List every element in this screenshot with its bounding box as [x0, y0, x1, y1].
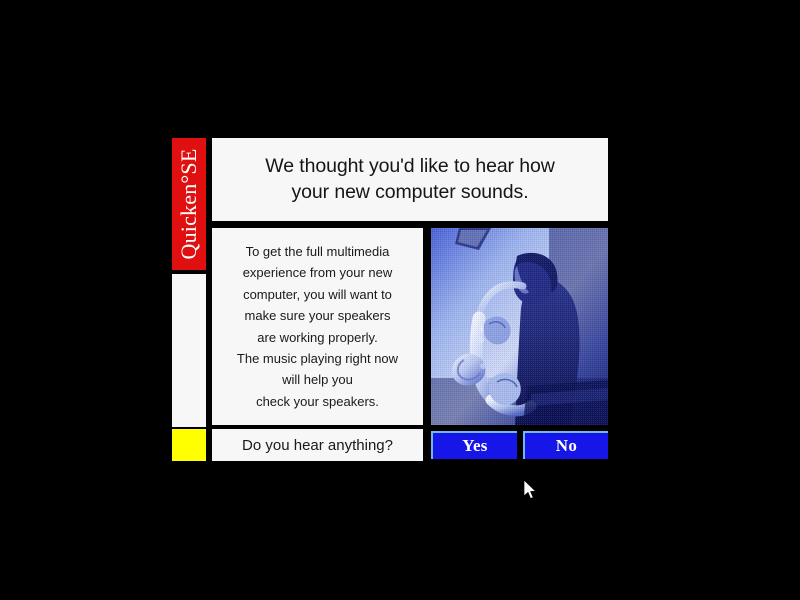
brand-rail: Quicken°SE — [172, 138, 206, 463]
footer-question-text: Do you hear anything? — [242, 437, 393, 454]
saxophone-photo — [431, 228, 608, 425]
body-line: will help you — [237, 369, 398, 390]
rail-yellow-block — [172, 429, 206, 461]
body-line: computer, you will want to — [237, 284, 398, 305]
yes-button[interactable]: Yes — [431, 431, 517, 459]
saxophone-photo-graphic — [431, 228, 608, 425]
mouse-cursor-icon — [524, 480, 538, 501]
footer-question: Do you hear anything? — [212, 429, 423, 461]
header-line-2: your new computer sounds. — [265, 180, 555, 206]
quicken-multimedia-dialog: Quicken°SE We thought you'd like to hear… — [172, 138, 608, 463]
no-button-label: No — [556, 436, 577, 456]
header-line-1: We thought you'd like to hear how — [265, 154, 555, 180]
rail-white-block — [172, 274, 206, 427]
body-copy: To get the full multimedia experience fr… — [231, 241, 404, 413]
brand-logo-block: Quicken°SE — [172, 138, 206, 270]
body-line: To get the full multimedia — [237, 241, 398, 262]
desktop-backdrop: Quicken°SE We thought you'd like to hear… — [0, 0, 800, 600]
body-line: make sure your speakers — [237, 305, 398, 326]
body-line: are working properly. — [237, 327, 398, 348]
body-text-panel: To get the full multimedia experience fr… — [212, 228, 423, 425]
no-button[interactable]: No — [523, 431, 608, 459]
yes-button-label: Yes — [462, 436, 487, 456]
body-line: check your speakers. — [237, 391, 398, 412]
body-line: experience from your new — [237, 262, 398, 283]
body-line: The music playing right now — [237, 348, 398, 369]
brand-logo-text: Quicken°SE — [178, 148, 200, 259]
page-title: We thought you'd like to hear how your n… — [257, 154, 563, 205]
header-banner: We thought you'd like to hear how your n… — [212, 138, 608, 221]
